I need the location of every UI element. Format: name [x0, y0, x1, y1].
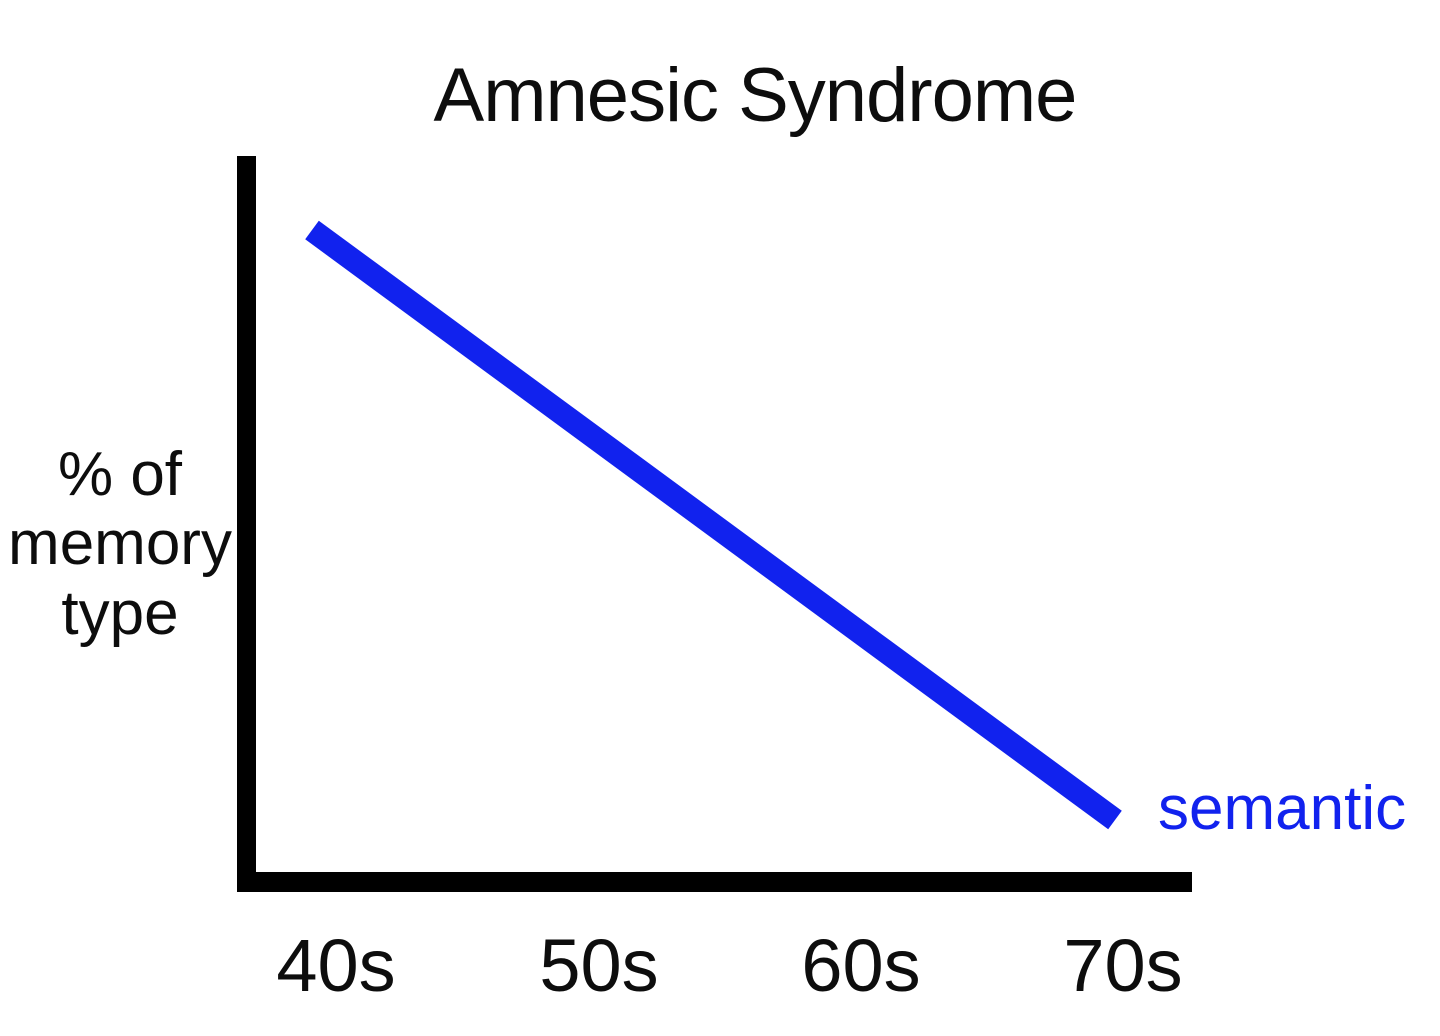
x-tick-label-50s: 50s [499, 925, 699, 1008]
y-axis-label-line-2: memory [6, 509, 234, 578]
y-axis-line [237, 156, 256, 892]
x-tick-label-60s: 60s [761, 925, 961, 1008]
x-tick-label-70s: 70s [1023, 925, 1223, 1008]
plot-area [237, 156, 1192, 892]
chart-figure: Amnesic Syndrome % of memory type 40s 50… [0, 0, 1440, 1036]
x-axis-tick-labels: 40s 50s 60s 70s [0, 925, 1440, 1017]
x-tick-label-40s: 40s [236, 925, 436, 1008]
chart-title: Amnesic Syndrome [0, 58, 1440, 134]
y-axis-label-line-1: % of [6, 440, 234, 509]
y-axis-label: % of memory type [6, 440, 234, 648]
y-axis-label-line-3: type [6, 579, 234, 648]
legend-label-semantic: semantic [1158, 776, 1406, 841]
x-axis-line [237, 872, 1192, 892]
